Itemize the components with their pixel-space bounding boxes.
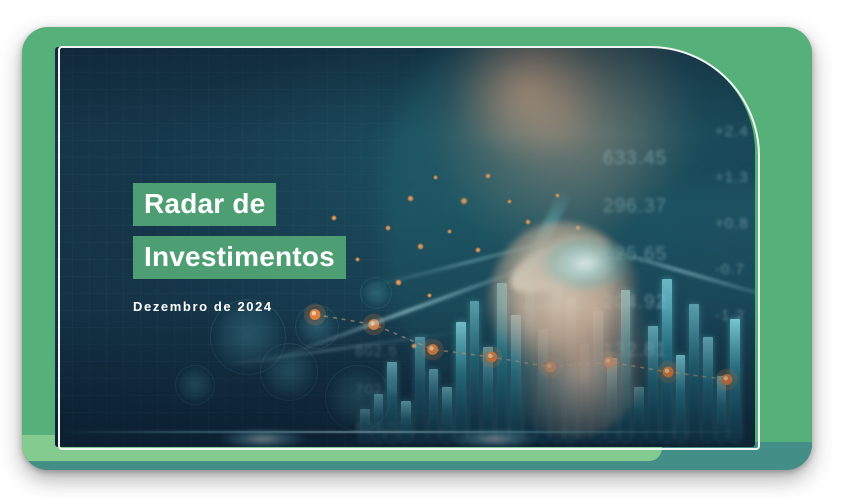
title-block: Radar de Investimentos Dezembro de 2024	[133, 183, 346, 314]
cover-photo: 633.45 296.37 625.65 204.92 132.81 +2.4 …	[55, 47, 755, 447]
baseline-glow	[55, 431, 755, 433]
line-marker-highlight	[724, 376, 728, 380]
touch-point-glow	[525, 225, 645, 301]
baseline-flare	[203, 425, 323, 447]
page-title-line-2: Investimentos	[133, 236, 346, 279]
line-marker-highlight	[429, 346, 433, 350]
cover-card: 633.45 296.37 625.65 204.92 132.81 +2.4 …	[22, 27, 812, 470]
baseline-flare	[435, 425, 555, 447]
page-title-line-1: Radar de	[133, 183, 276, 226]
line-marker-highlight	[665, 369, 669, 373]
page-subtitle: Dezembro de 2024	[133, 299, 346, 314]
cover-canvas: 633.45 296.37 625.65 204.92 132.81 +2.4 …	[0, 0, 844, 497]
